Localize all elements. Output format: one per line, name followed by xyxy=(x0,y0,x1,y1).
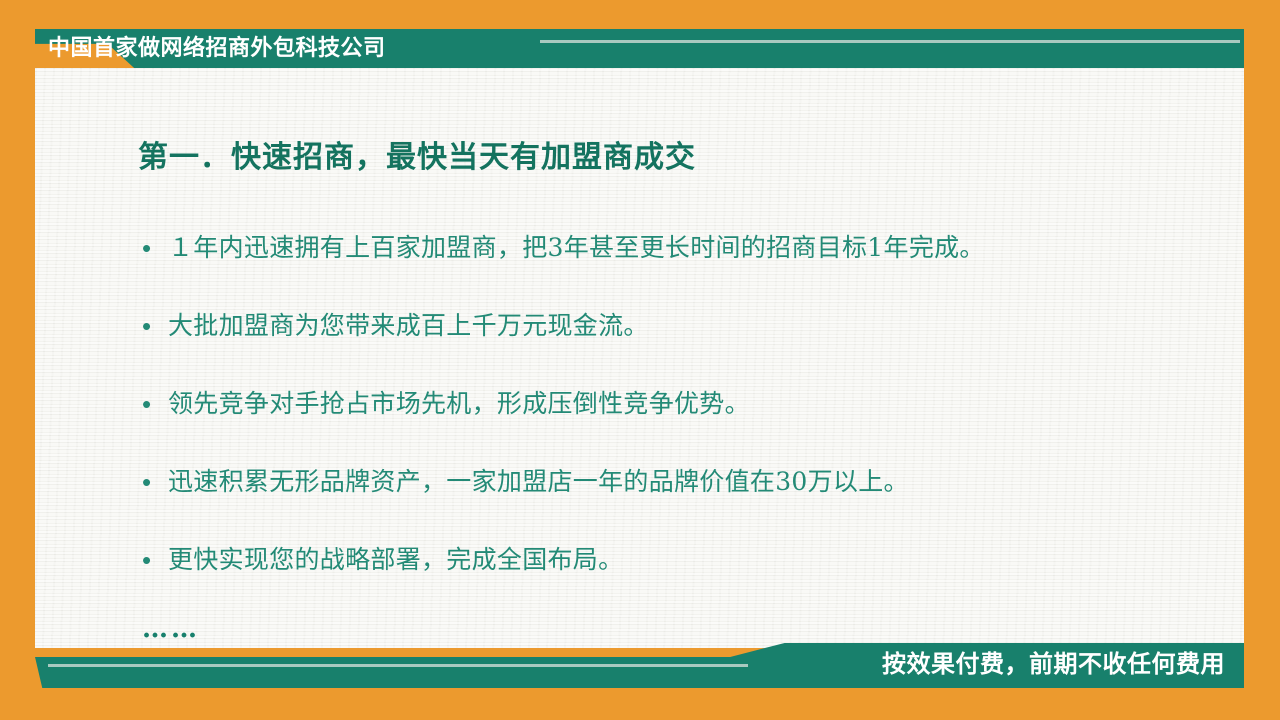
footer-slogan: 按效果付费，前期不收任何费用 xyxy=(882,648,1225,682)
list-item: • 迅速积累无形品牌资产，一家加盟店一年的品牌价值在30万以上。 xyxy=(142,462,1202,540)
list-item: • 领先竞争对手抢占市场先机，形成压倒性竞争优势。 xyxy=(142,384,1202,462)
list-item-text: 迅速积累无形品牌资产，一家加盟店一年的品牌价值在30万以上。 xyxy=(168,462,1202,502)
list-item: • １年内迅速拥有上百家加盟商，把3年甚至更长时间的招商目标1年完成。 xyxy=(142,228,1202,306)
bullet-list: • １年内迅速拥有上百家加盟商，把3年甚至更长时间的招商目标1年完成。 • 大批… xyxy=(142,228,1202,618)
list-item-text: １年内迅速拥有上百家加盟商，把3年甚至更长时间的招商目标1年完成。 xyxy=(168,228,1202,268)
bullet-marker-icon: • xyxy=(142,384,168,424)
list-item-text: 领先竞争对手抢占市场先机，形成压倒性竞争优势。 xyxy=(168,384,1202,424)
bullet-marker-icon: • xyxy=(142,228,168,268)
continuation-ellipsis: …… xyxy=(142,614,200,644)
list-item: • 大批加盟商为您带来成百上千万元现金流。 xyxy=(142,306,1202,384)
slide-title: 第一．快速招商，最快当天有加盟商成交 xyxy=(138,132,696,176)
list-item-text: 更快实现您的战略部署，完成全国布局。 xyxy=(168,540,1202,580)
company-tagline: 中国首家做网络招商外包科技公司 xyxy=(48,33,386,63)
list-item-text: 大批加盟商为您带来成百上千万元现金流。 xyxy=(168,306,1202,346)
presentation-slide: 中国首家做网络招商外包科技公司 第一．快速招商，最快当天有加盟商成交 • １年内… xyxy=(0,0,1280,720)
bullet-marker-icon: • xyxy=(142,462,168,502)
header-divider-line xyxy=(540,40,1240,43)
list-item: • 更快实现您的战略部署，完成全国布局。 xyxy=(142,540,1202,618)
footer-divider-line xyxy=(48,664,748,667)
bullet-marker-icon: • xyxy=(142,540,168,580)
bullet-marker-icon: • xyxy=(142,306,168,346)
